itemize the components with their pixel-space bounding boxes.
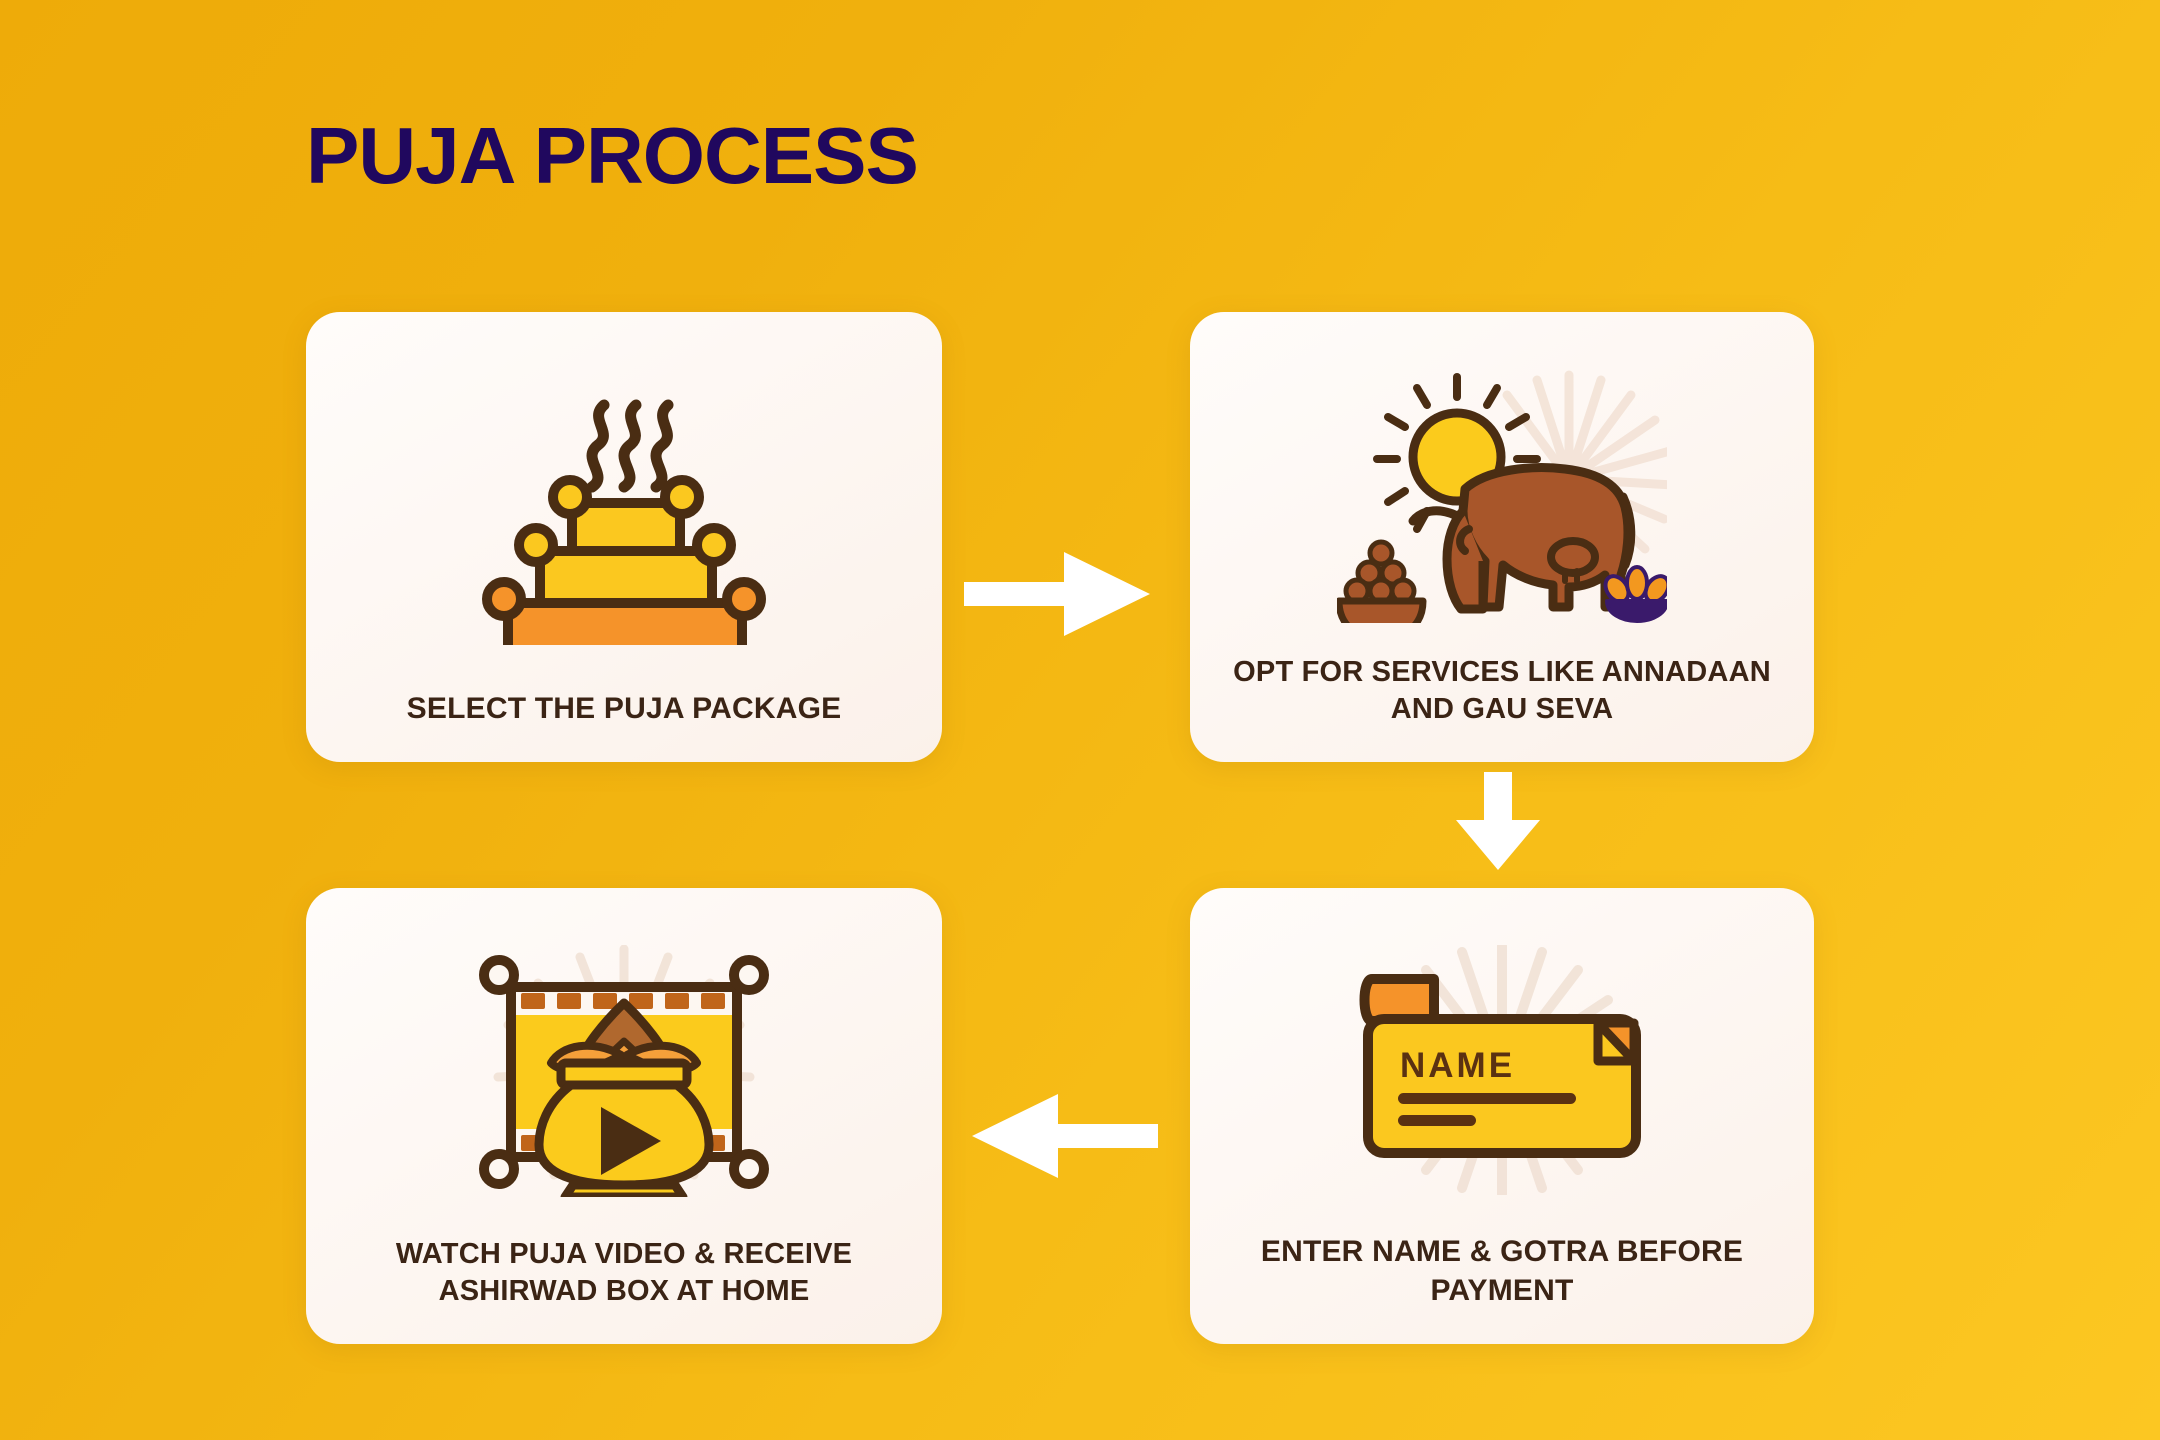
page-title: PUJA PROCESS	[306, 116, 918, 196]
step-card-label: OPT FOR SERVICES LIKE ANNADAAN AND GAU S…	[1190, 654, 1814, 762]
step-card-watch-puja-video[interactable]: WATCH PUJA VIDEO & RECEIVE ASHIRWAD BOX …	[306, 888, 942, 1344]
puja-video-icon	[306, 888, 942, 1236]
cow-with-sun-icon	[1190, 312, 1814, 654]
step-card-label: WATCH PUJA VIDEO & RECEIVE ASHIRWAD BOX …	[306, 1236, 942, 1344]
step-card-label: SELECT THE PUJA PACKAGE	[306, 690, 942, 762]
step-card-enter-name-gotra[interactable]: NAME ENTER NAME & GOTRA BEFORE PAYMENT	[1190, 888, 1814, 1344]
step-card-select-puja-package[interactable]: SELECT THE PUJA PACKAGE	[306, 312, 942, 762]
step-card-label: ENTER NAME & GOTRA BEFORE PAYMENT	[1190, 1233, 1814, 1344]
step-card-opt-for-services[interactable]: OPT FOR SERVICES LIKE ANNADAAN AND GAU S…	[1190, 312, 1814, 762]
tiered-altar-icon	[306, 312, 942, 690]
name-card-icon: NAME	[1190, 888, 1814, 1233]
arrow-right-icon	[964, 548, 1154, 645]
name-card-text: NAME	[1400, 1046, 1515, 1085]
arrow-left-icon	[968, 1090, 1158, 1187]
arrow-down-icon	[1452, 772, 1544, 879]
